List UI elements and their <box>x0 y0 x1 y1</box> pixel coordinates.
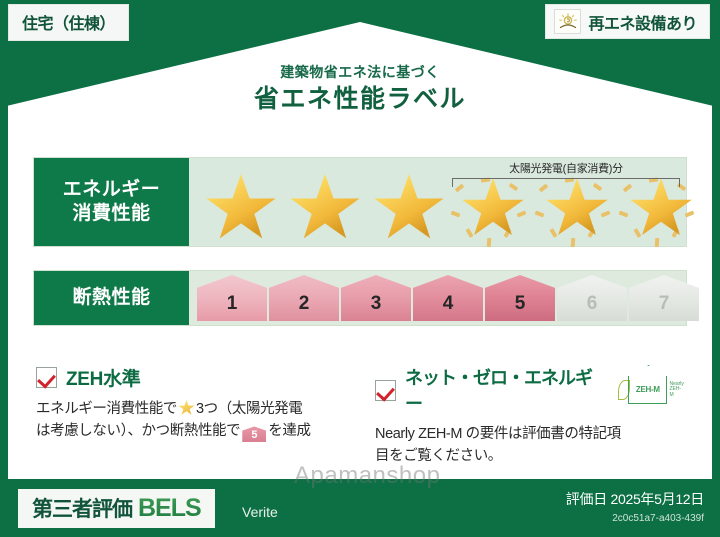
insulation-grade-number: 6 <box>587 293 598 315</box>
zeh-m-logo-sub: Nearly ZEH-M <box>669 382 685 399</box>
label-title-block: 建築物省エネ法に基づく 省エネ性能ラベル <box>0 64 720 114</box>
energy-label-line2: 消費性能 <box>72 202 150 226</box>
zeh-m-logo-sub2: ZEH-M <box>669 386 681 398</box>
zeh-m-logo-text: ZEH-M <box>636 385 660 394</box>
evaluation-info: 評価日 2025年5月12日 2c0c51a7-a403-439f <box>566 489 704 524</box>
star-sparkle-mark <box>550 228 558 238</box>
star-sparkle-mark <box>685 210 695 217</box>
star-sparkle-mark <box>593 183 603 191</box>
star-1-filled <box>199 176 283 242</box>
star-sparkle-mark <box>565 177 574 182</box>
insulation-grade-number: 2 <box>299 293 310 315</box>
inline-grade-badge: 5 <box>242 426 266 442</box>
insulation-performance-row: 断熱性能 1234567 <box>33 270 687 326</box>
energy-label-line1: エネルギー <box>63 178 161 202</box>
inline-star-icon <box>178 400 195 416</box>
zeh-m-logo-icon: ZEH-M Nearly ZEH-M <box>618 376 685 404</box>
footer-bar: 第三者評価 BELS Verite 評価日 2025年5月12日 2c0c51a… <box>0 479 720 537</box>
insulation-grade-number: 1 <box>227 293 238 315</box>
star-sparkle-mark <box>677 183 687 191</box>
insulation-grade-number: 4 <box>443 293 454 315</box>
net-zero-header: ネット・ゼロ・エネルギー ZEH-M Nearly ZEH-M <box>375 364 685 416</box>
insulation-grades-body: 1234567 <box>189 271 686 325</box>
star-3-filled <box>367 176 451 242</box>
zeh-desc-part4: を達成 <box>268 423 310 439</box>
energy-performance-row: エネルギー 消費性能 太陽光発電(自家消費)分 <box>33 157 687 247</box>
star-sparkle-mark <box>623 184 633 193</box>
zeh-standard-title: ZEH水準 <box>66 364 141 391</box>
building-type-tag: 住宅（住棟） <box>8 4 129 41</box>
star-sparkle-mark <box>649 177 658 182</box>
star-sparkle-mark <box>571 238 576 247</box>
star-sparkle-mark <box>487 238 492 247</box>
bels-jp-label: 第三者評価 <box>32 493 132 523</box>
zeh-standard-description: エネルギー消費性能で3つ（太陽光発電 は考慮しない）、かつ断熱性能で5を達成 <box>36 398 336 443</box>
star-icon <box>289 174 361 244</box>
star-sparkle-mark <box>455 184 465 193</box>
star-5-solar <box>535 176 619 242</box>
star-sparkle-mark <box>466 228 474 238</box>
zeh-standard-section: ZEH水準 エネルギー消費性能で3つ（太陽光発電 は考慮しない）、かつ断熱性能で… <box>36 364 336 443</box>
insulation-grade-3-active: 3 <box>341 275 411 321</box>
zeh-standard-header: ZEH水準 <box>36 364 336 391</box>
net-zero-checkbox-checked-icon <box>375 380 396 401</box>
bels-en-label: BELS <box>138 494 201 523</box>
star-6-solar <box>619 176 703 242</box>
insulation-grade-1-active: 1 <box>197 275 267 321</box>
label-subtitle: 建築物省エネ法に基づく <box>0 64 720 81</box>
insulation-grade-2-active: 2 <box>269 275 339 321</box>
star-sparkle-mark <box>619 211 629 218</box>
energy-star-rating <box>189 158 686 246</box>
insulation-performance-label: 断熱性能 <box>34 271 189 325</box>
energy-performance-label: エネルギー 消費性能 <box>34 158 189 246</box>
star-sparkle-mark <box>535 211 545 218</box>
star-4-solar <box>451 176 535 242</box>
zeh-desc-part1: エネルギー消費性能で <box>36 401 177 417</box>
star-sparkle-mark <box>634 228 642 238</box>
star-2-filled <box>283 176 367 242</box>
net-zero-desc-line1: Nearly ZEH-M の要件は評価書の特記項 <box>375 426 621 442</box>
net-zero-desc-line2: 目をご覧ください。 <box>375 448 502 464</box>
evaluation-id: 2c0c51a7-a403-439f <box>566 513 704 524</box>
star-sparkle-mark <box>601 210 611 217</box>
insulation-grade-number: 7 <box>659 293 670 315</box>
renewable-energy-badge: 再エネ設備あり <box>545 4 710 39</box>
insulation-grade-6-inactive: 6 <box>557 275 627 321</box>
star-sparkle-mark <box>481 177 490 182</box>
insulation-grade-5-active: 5 <box>485 275 555 321</box>
insulation-grade-4-active: 4 <box>413 275 483 321</box>
energy-stars-body: 太陽光発電(自家消費)分 <box>189 158 686 246</box>
sun-icon <box>554 9 581 34</box>
zeh-standard-checkbox-checked-icon <box>36 367 57 388</box>
star-icon <box>205 174 277 244</box>
zeh-m-house-icon: ZEH-M <box>628 376 667 404</box>
bels-plate: 第三者評価 BELS <box>18 489 215 528</box>
evaluator-name: Verite <box>242 504 278 520</box>
zeh-desc-part2: 3つ（太陽光発電 <box>196 401 302 417</box>
insulation-grade-number: 5 <box>515 293 526 315</box>
energy-label-root: 住宅（住棟） 再エネ設備あり 建築物省エネ法に基づく 省エネ性能ラベル <box>0 0 720 537</box>
star-sparkle-mark <box>539 184 549 193</box>
net-zero-title: ネット・ゼロ・エネルギー <box>405 364 605 416</box>
star-sparkle-mark <box>517 210 527 217</box>
insulation-grade-number: 3 <box>371 293 382 315</box>
zeh-desc-part3: は考慮しない）、かつ断熱性能で <box>36 423 240 439</box>
net-zero-energy-section: ネット・ゼロ・エネルギー ZEH-M Nearly ZEH-M Nearly Z… <box>375 364 685 468</box>
evaluation-date: 評価日 2025年5月12日 <box>566 489 704 509</box>
star-sparkle-mark <box>509 183 519 191</box>
insulation-grade-scale: 1234567 <box>189 271 686 325</box>
star-sparkle-mark <box>655 238 660 247</box>
label-title: 省エネ性能ラベル <box>0 84 720 114</box>
star-sparkle-mark <box>451 211 461 218</box>
star-icon <box>373 174 445 244</box>
renewable-badge-label: 再エネ設備あり <box>588 10 697 34</box>
net-zero-description: Nearly ZEH-M の要件は評価書の特記項 目をご覧ください。 <box>375 423 685 468</box>
